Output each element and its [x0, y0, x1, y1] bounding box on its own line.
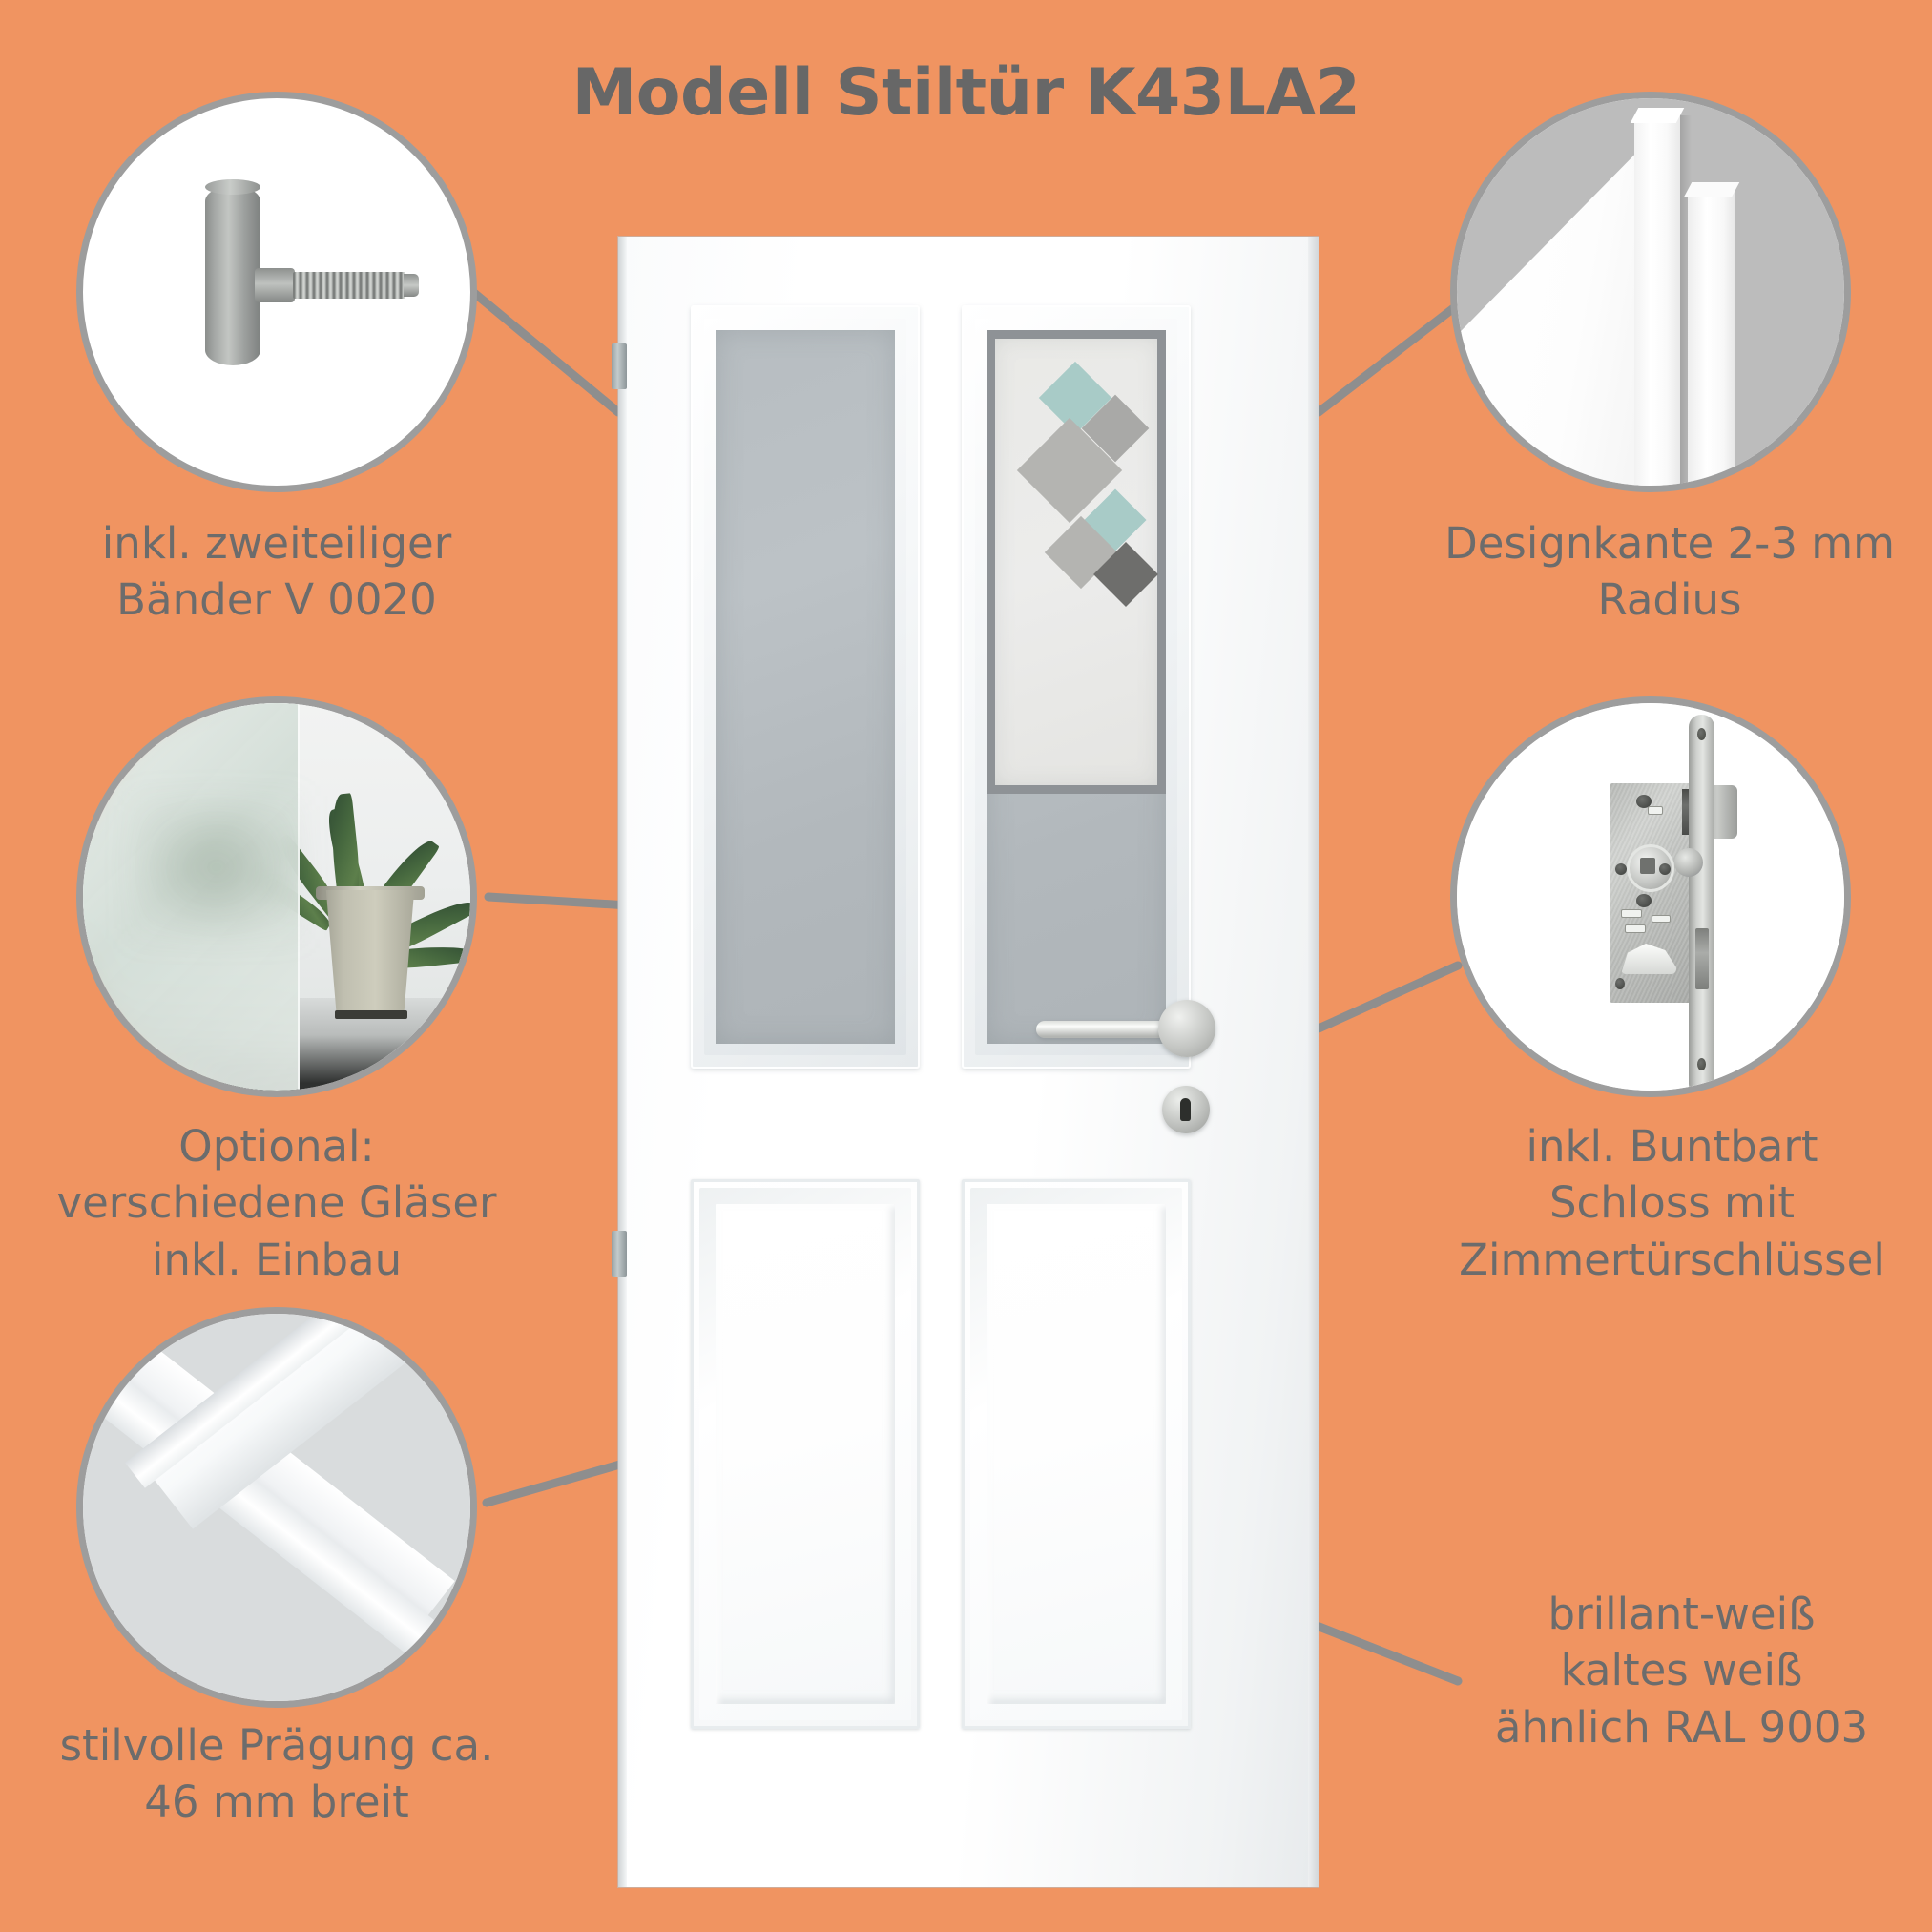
caption-lock-line-2: Schloss mit: [1412, 1174, 1932, 1231]
door-illustration: [618, 237, 1319, 1887]
moulding-corner-icon: [83, 1314, 470, 1701]
caption-hinge: inkl. zweiteiliger Bänder V 0020: [38, 515, 515, 629]
caption-glass-line-1: Optional:: [19, 1118, 534, 1174]
caption-design-edge-line-1: Designkante 2-3 mm: [1422, 515, 1918, 571]
caption-design-edge-line-2: Radius: [1422, 571, 1918, 628]
connector-design-edge: [1319, 303, 1460, 412]
door-left-edge: [618, 237, 627, 1887]
door-edge-icon: [1457, 98, 1844, 486]
caption-hinge-line-1: inkl. zweiteiliger: [38, 515, 515, 571]
hinge-pin-icon: [83, 98, 470, 486]
keyhole-slot: [1180, 1098, 1191, 1121]
caption-colour: brillant-weiß kaltes weiß ähnlich RAL 90…: [1431, 1586, 1932, 1755]
door-handle-rose[interactable]: [1158, 1000, 1215, 1057]
glass-opening-right: [962, 305, 1191, 1069]
detail-circle-glass: [76, 696, 477, 1097]
glass-pane-left: [716, 330, 895, 1044]
detail-circle-embossing: [76, 1307, 477, 1708]
caption-embossing-line-2: 46 mm breit: [29, 1774, 525, 1830]
panel-face-right: [987, 1204, 1166, 1704]
caption-design-edge: Designkante 2-3 mm Radius: [1422, 515, 1918, 629]
caption-glass: Optional: verschiedene Gläser inkl. Einb…: [19, 1118, 534, 1288]
glass-pane-right: [987, 330, 1166, 1044]
caption-glass-line-2: verschiedene Gläser: [19, 1174, 534, 1231]
door-handle-lever[interactable]: [1036, 1021, 1175, 1038]
detail-circle-design-edge: [1450, 92, 1851, 492]
door-hinge-top: [612, 343, 627, 389]
caption-lock: inkl. Buntbart Schloss mit Zimmertürschl…: [1412, 1118, 1932, 1288]
caption-embossing: stilvolle Prägung ca. 46 mm breit: [29, 1717, 525, 1831]
door-panel-bottom-left: [691, 1179, 920, 1729]
caption-lock-line-3: Zimmertürschlüssel: [1412, 1232, 1932, 1288]
door-hinge-bottom: [612, 1231, 627, 1277]
door-panel-bottom-right: [962, 1179, 1191, 1729]
caption-colour-line-1: brillant-weiß: [1431, 1586, 1932, 1642]
decor-field: [987, 330, 1166, 794]
panel-face-left: [716, 1204, 895, 1704]
detail-circle-hinge: [76, 92, 477, 492]
caption-hinge-line-2: Bänder V 0020: [38, 571, 515, 628]
mortise-lock-icon: [1457, 703, 1844, 1091]
caption-colour-line-3: ähnlich RAL 9003: [1431, 1699, 1932, 1755]
caption-lock-line-1: inkl. Buntbart: [1412, 1118, 1932, 1174]
caption-glass-line-3: inkl. Einbau: [19, 1232, 534, 1288]
frosted-glass-plant-icon: [83, 703, 470, 1091]
caption-embossing-line-1: stilvolle Prägung ca.: [29, 1717, 525, 1774]
glass-opening-left: [691, 305, 920, 1069]
door-right-edge: [1308, 237, 1319, 1887]
connector-lock: [1319, 966, 1458, 1028]
infographic-canvas: Modell Stiltür K43LA2: [0, 0, 1932, 1932]
caption-colour-line-2: kaltes weiß: [1431, 1642, 1932, 1698]
detail-circle-lock: [1450, 696, 1851, 1097]
